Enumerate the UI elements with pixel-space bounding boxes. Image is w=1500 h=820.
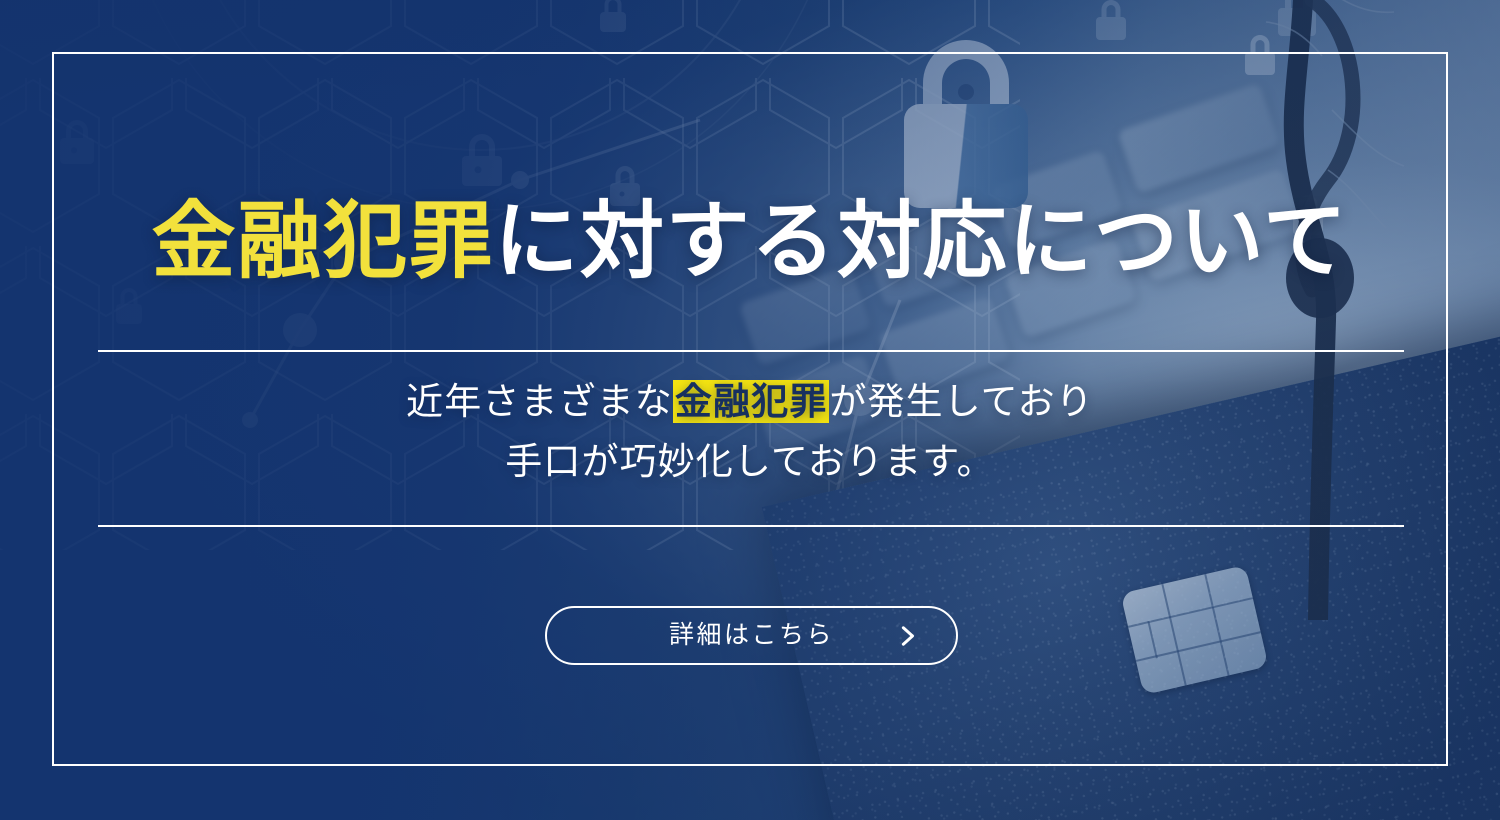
divider-top [98, 350, 1404, 352]
hero-banner: 金融犯罪に対する対応について 近年さまざまな金融犯罪が発生しており 手口が巧妙化… [0, 0, 1500, 820]
lead-paragraph: 近年さまざまな金融犯罪が発生しており 手口が巧妙化しております。 [0, 372, 1500, 492]
lead-line2: 手口が巧妙化しております。 [505, 441, 995, 482]
lead-highlight: 金融犯罪 [673, 380, 829, 423]
lead-line1-after: が発生しており [829, 381, 1094, 422]
details-button[interactable]: 詳細はこちら [545, 606, 958, 665]
banner-content: 金融犯罪に対する対応について 近年さまざまな金融犯罪が発生しており 手口が巧妙化… [0, 0, 1500, 820]
page-title: 金融犯罪に対する対応について [0, 196, 1500, 287]
divider-bottom [98, 525, 1404, 527]
page-title-rest: に対する対応について [494, 194, 1348, 288]
page-title-highlight: 金融犯罪 [151, 194, 494, 288]
chevron-right-icon [896, 625, 918, 647]
lead-line1-before: 近年さまざまな [406, 381, 673, 422]
details-button-label: 詳細はこちら [669, 623, 834, 648]
